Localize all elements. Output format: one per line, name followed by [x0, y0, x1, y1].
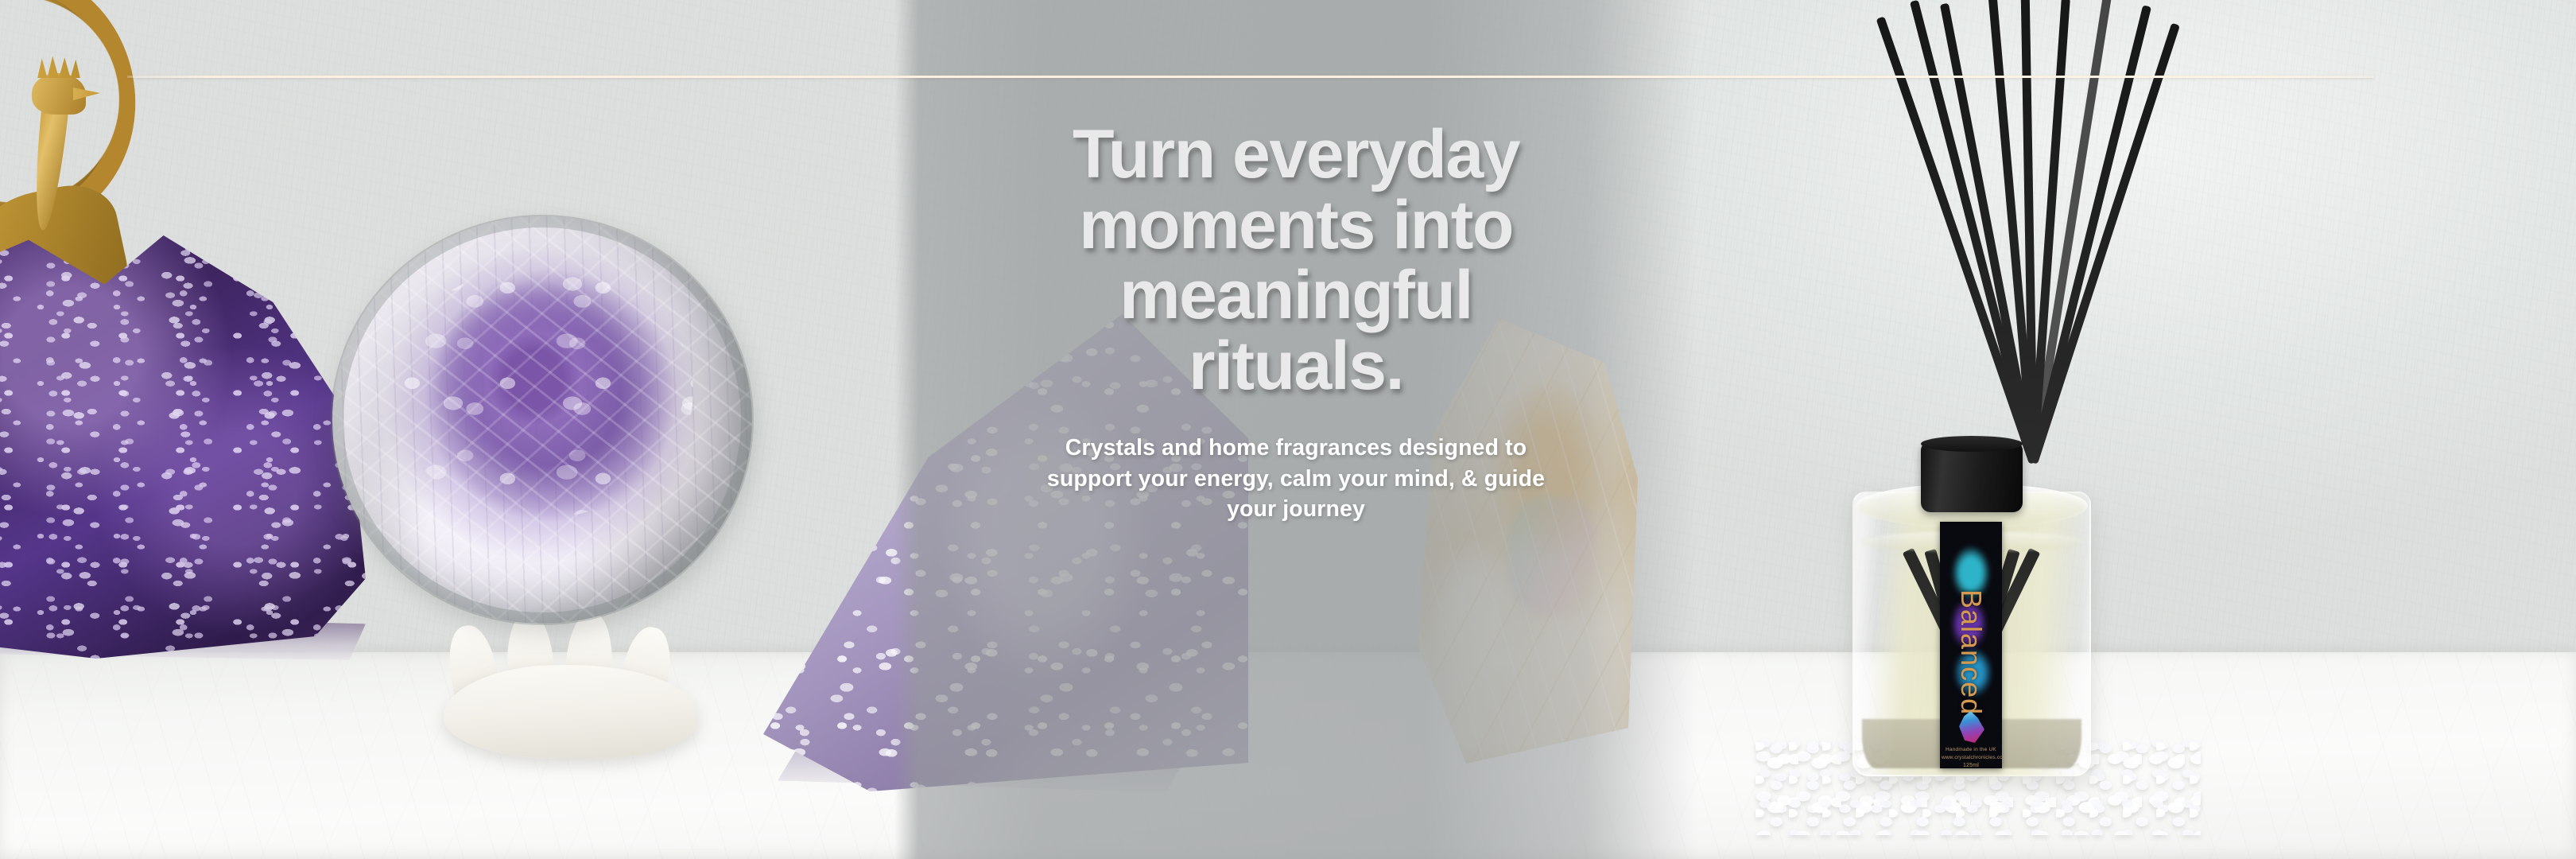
headline-line-2: moments into — [920, 190, 1672, 261]
subcopy-line-1: Crystals and home fragrances designed to — [980, 433, 1612, 463]
amethyst-geode-sphere — [332, 216, 752, 624]
subcopy-line-2: support your energy, calm your mind, & g… — [980, 464, 1612, 494]
fine-print-handmade: Handmade in the UK — [1942, 746, 2000, 754]
headline-line-1: Turn everyday — [920, 119, 1672, 190]
page-title: Turn everyday moments into meaningful ri… — [894, 119, 1697, 401]
bottle-cap — [1921, 442, 2023, 512]
reed-diffuser-bottle: Balanced Handmade in the UK www.crystalc… — [1852, 442, 2091, 776]
headline-line-3: meaningful — [920, 260, 1672, 331]
hero-copy: Turn everyday moments into meaningful ri… — [894, 119, 1697, 525]
hero-subheading: Crystals and home fragrances designed to… — [894, 433, 1697, 524]
subcopy-line-3: your journey — [980, 494, 1612, 524]
hero-banner: Balanced Handmade in the UK www.crystalc… — [0, 0, 2576, 859]
headline-line-4: rituals. — [920, 331, 1672, 402]
fine-print-website: www.crystalchronicles.com — [1942, 754, 2000, 762]
hand-palm — [444, 665, 698, 759]
diffuser-label: Balanced Handmade in the UK www.crystalc… — [1940, 522, 2002, 768]
diffuser-label-fine-print: Handmade in the UK www.crystalchronicles… — [1942, 746, 2000, 768]
divider — [127, 76, 2374, 78]
fine-print-volume: 125ml — [1942, 762, 2000, 769]
sphere-rim-shading — [331, 215, 754, 625]
reed-stick — [2029, 0, 2112, 464]
reed-diffuser-sticks — [1821, 0, 2266, 463]
